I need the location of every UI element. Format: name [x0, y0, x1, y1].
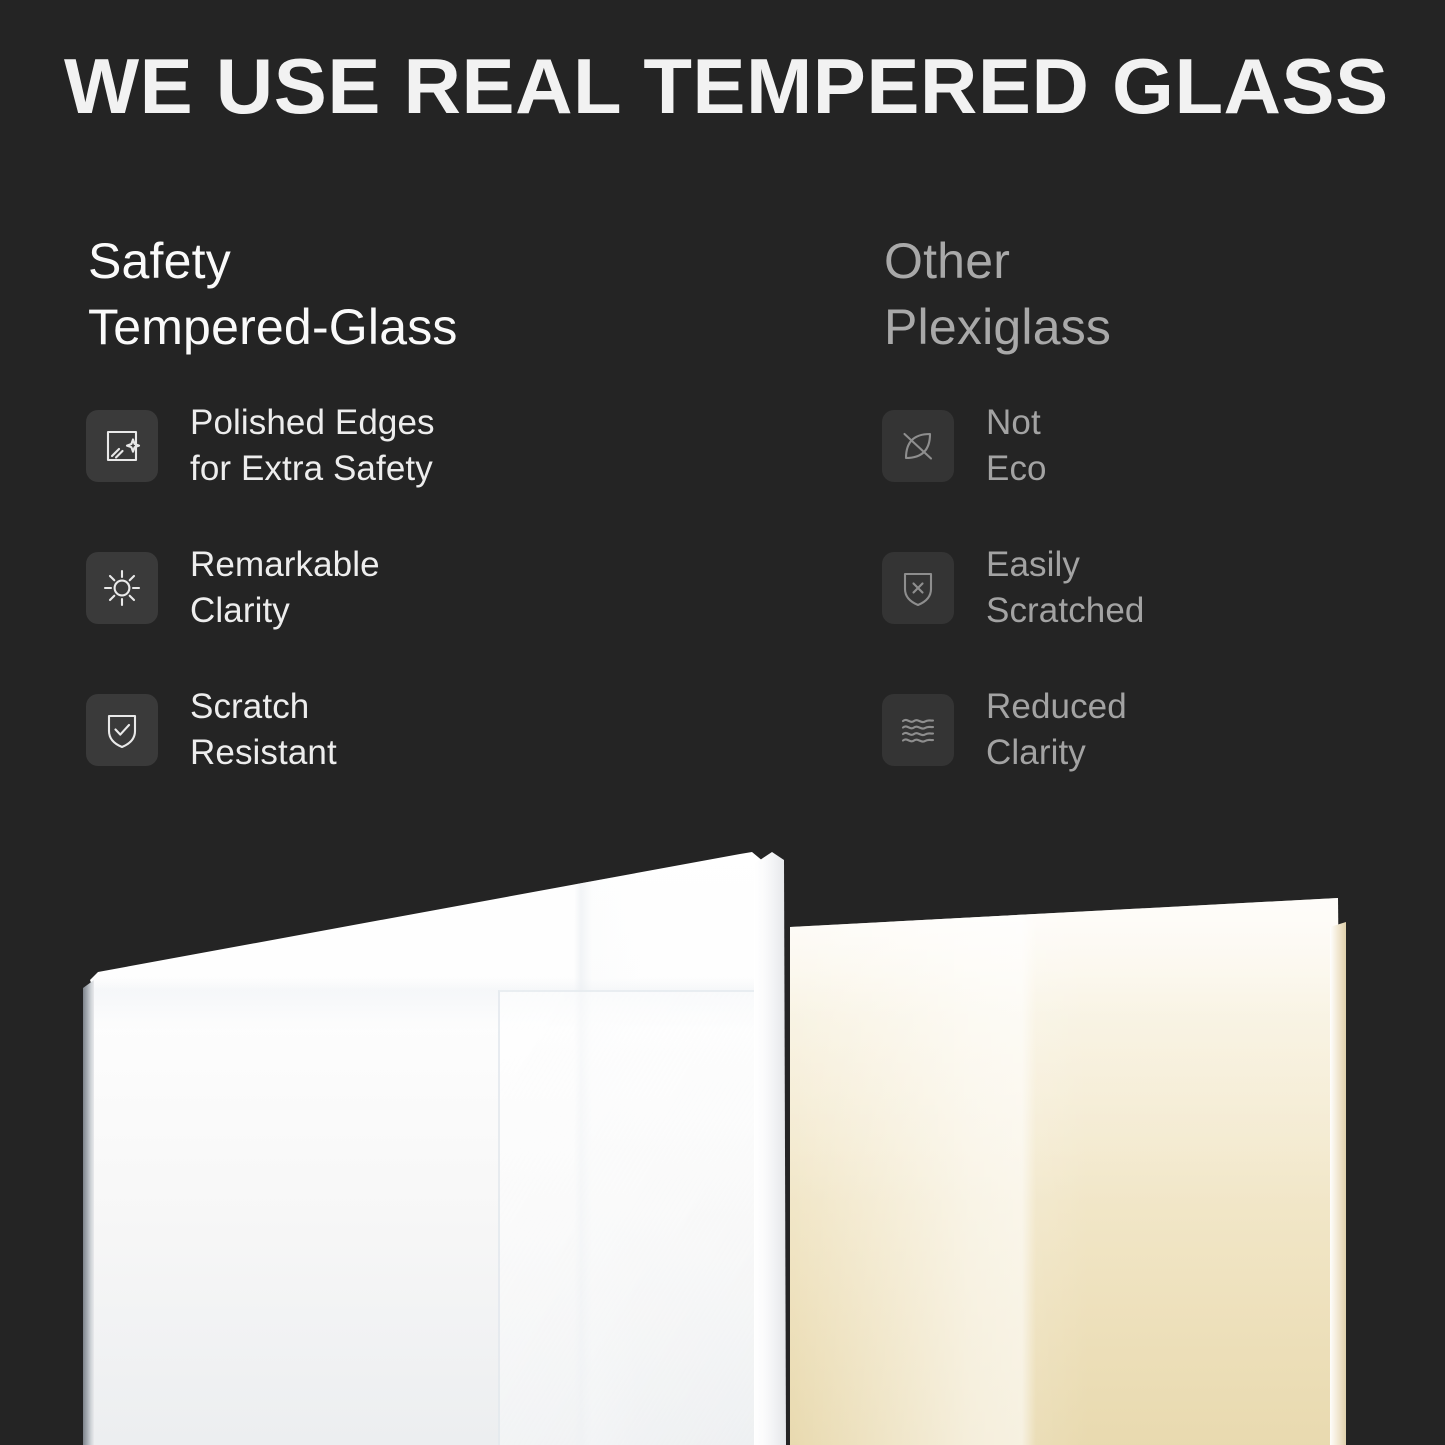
- feature-scratch-resistant: Scratch Resistant: [86, 682, 646, 778]
- tempered-glass-panel-right-edge: [754, 850, 786, 1445]
- feature-list-tempered-glass: Polished Edges for Extra Safety: [86, 398, 646, 778]
- feature-easily-scratched: Easily Scratched: [882, 540, 1442, 636]
- feature-reduced-clarity: Reduced Clarity: [882, 682, 1442, 778]
- feature-list-plexiglass: Not Eco Easily Scratched: [882, 398, 1442, 778]
- wavy-lines-icon: [897, 709, 939, 751]
- column-title-plexiglass: Other Plexiglass: [884, 228, 1442, 360]
- feature-not-eco: Not Eco: [882, 398, 1442, 494]
- icon-tile: [86, 410, 158, 482]
- feature-label: Polished Edges for Extra Safety: [190, 400, 435, 492]
- feature-label: Not Eco: [986, 400, 1047, 492]
- feature-label: Remarkable Clarity: [190, 542, 380, 634]
- feature-label: Reduced Clarity: [986, 684, 1127, 776]
- glass-panels-illustration: [0, 840, 1445, 1445]
- column-title-tempered-glass: Safety Tempered-Glass: [88, 228, 646, 360]
- feature-label: Easily Scratched: [986, 542, 1145, 634]
- feature-remarkable-clarity: Remarkable Clarity: [86, 540, 646, 636]
- icon-tile: [86, 694, 158, 766]
- icon-tile: [882, 552, 954, 624]
- leaf-crossed-out-icon: [897, 425, 939, 467]
- plexiglass-panel-edge: [1330, 898, 1346, 1445]
- page-title: WE USE REAL TEMPERED GLASS: [64, 38, 1421, 134]
- icon-tile: [882, 410, 954, 482]
- polished-glass-pane-icon: [101, 425, 143, 467]
- tempered-glass-panel: [80, 840, 786, 1445]
- column-plexiglass: Other Plexiglass Not Eco: [882, 228, 1442, 778]
- shield-check-icon: [101, 709, 143, 751]
- feature-label: Scratch Resistant: [190, 684, 337, 776]
- comparison-columns: Safety Tempered-Glass Poli: [0, 228, 1445, 848]
- plexiglass-panel: [790, 898, 1350, 1445]
- column-tempered-glass: Safety Tempered-Glass Poli: [86, 228, 646, 778]
- product-comparison-infographic: WE USE REAL TEMPERED GLASS Safety Temper…: [0, 0, 1445, 1445]
- shield-x-icon: [897, 567, 939, 609]
- icon-tile: [882, 694, 954, 766]
- tempered-glass-panel-left-bevel: [83, 980, 94, 1445]
- icon-tile: [86, 552, 158, 624]
- sun-brightness-icon: [101, 567, 143, 609]
- feature-polished-edges: Polished Edges for Extra Safety: [86, 398, 646, 494]
